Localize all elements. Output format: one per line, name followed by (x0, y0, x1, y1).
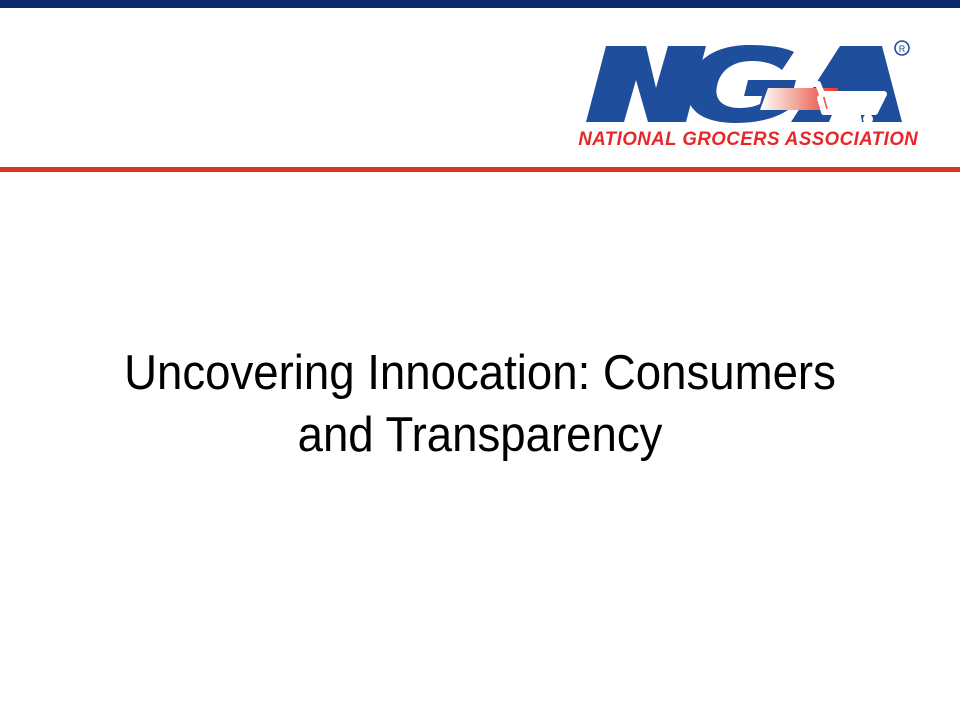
svg-text:R: R (899, 44, 906, 54)
slide-title-line-1: Uncovering Innocation: Consumers (89, 342, 870, 404)
logo-letter-g (687, 45, 796, 123)
nga-logo: R NATIONAL GROCERS ASSOCIATION (572, 36, 912, 156)
slide-title: Uncovering Innocation: Consumers and Tra… (60, 342, 900, 466)
presentation-slide: R NATIONAL GROCERS ASSOCIATION Uncoverin… (0, 0, 960, 720)
top-accent-bar (0, 0, 960, 8)
nga-logo-mark: R (572, 36, 912, 128)
slide-header-band: R NATIONAL GROCERS ASSOCIATION (0, 8, 960, 167)
slide-body: Uncovering Innocation: Consumers and Tra… (0, 172, 960, 720)
slide-title-line-2: and Transparency (89, 404, 870, 466)
nga-logo-tagline: NATIONAL GROCERS ASSOCIATION (578, 128, 903, 152)
registered-trademark-icon: R (895, 41, 909, 55)
logo-letter-n (586, 46, 706, 122)
